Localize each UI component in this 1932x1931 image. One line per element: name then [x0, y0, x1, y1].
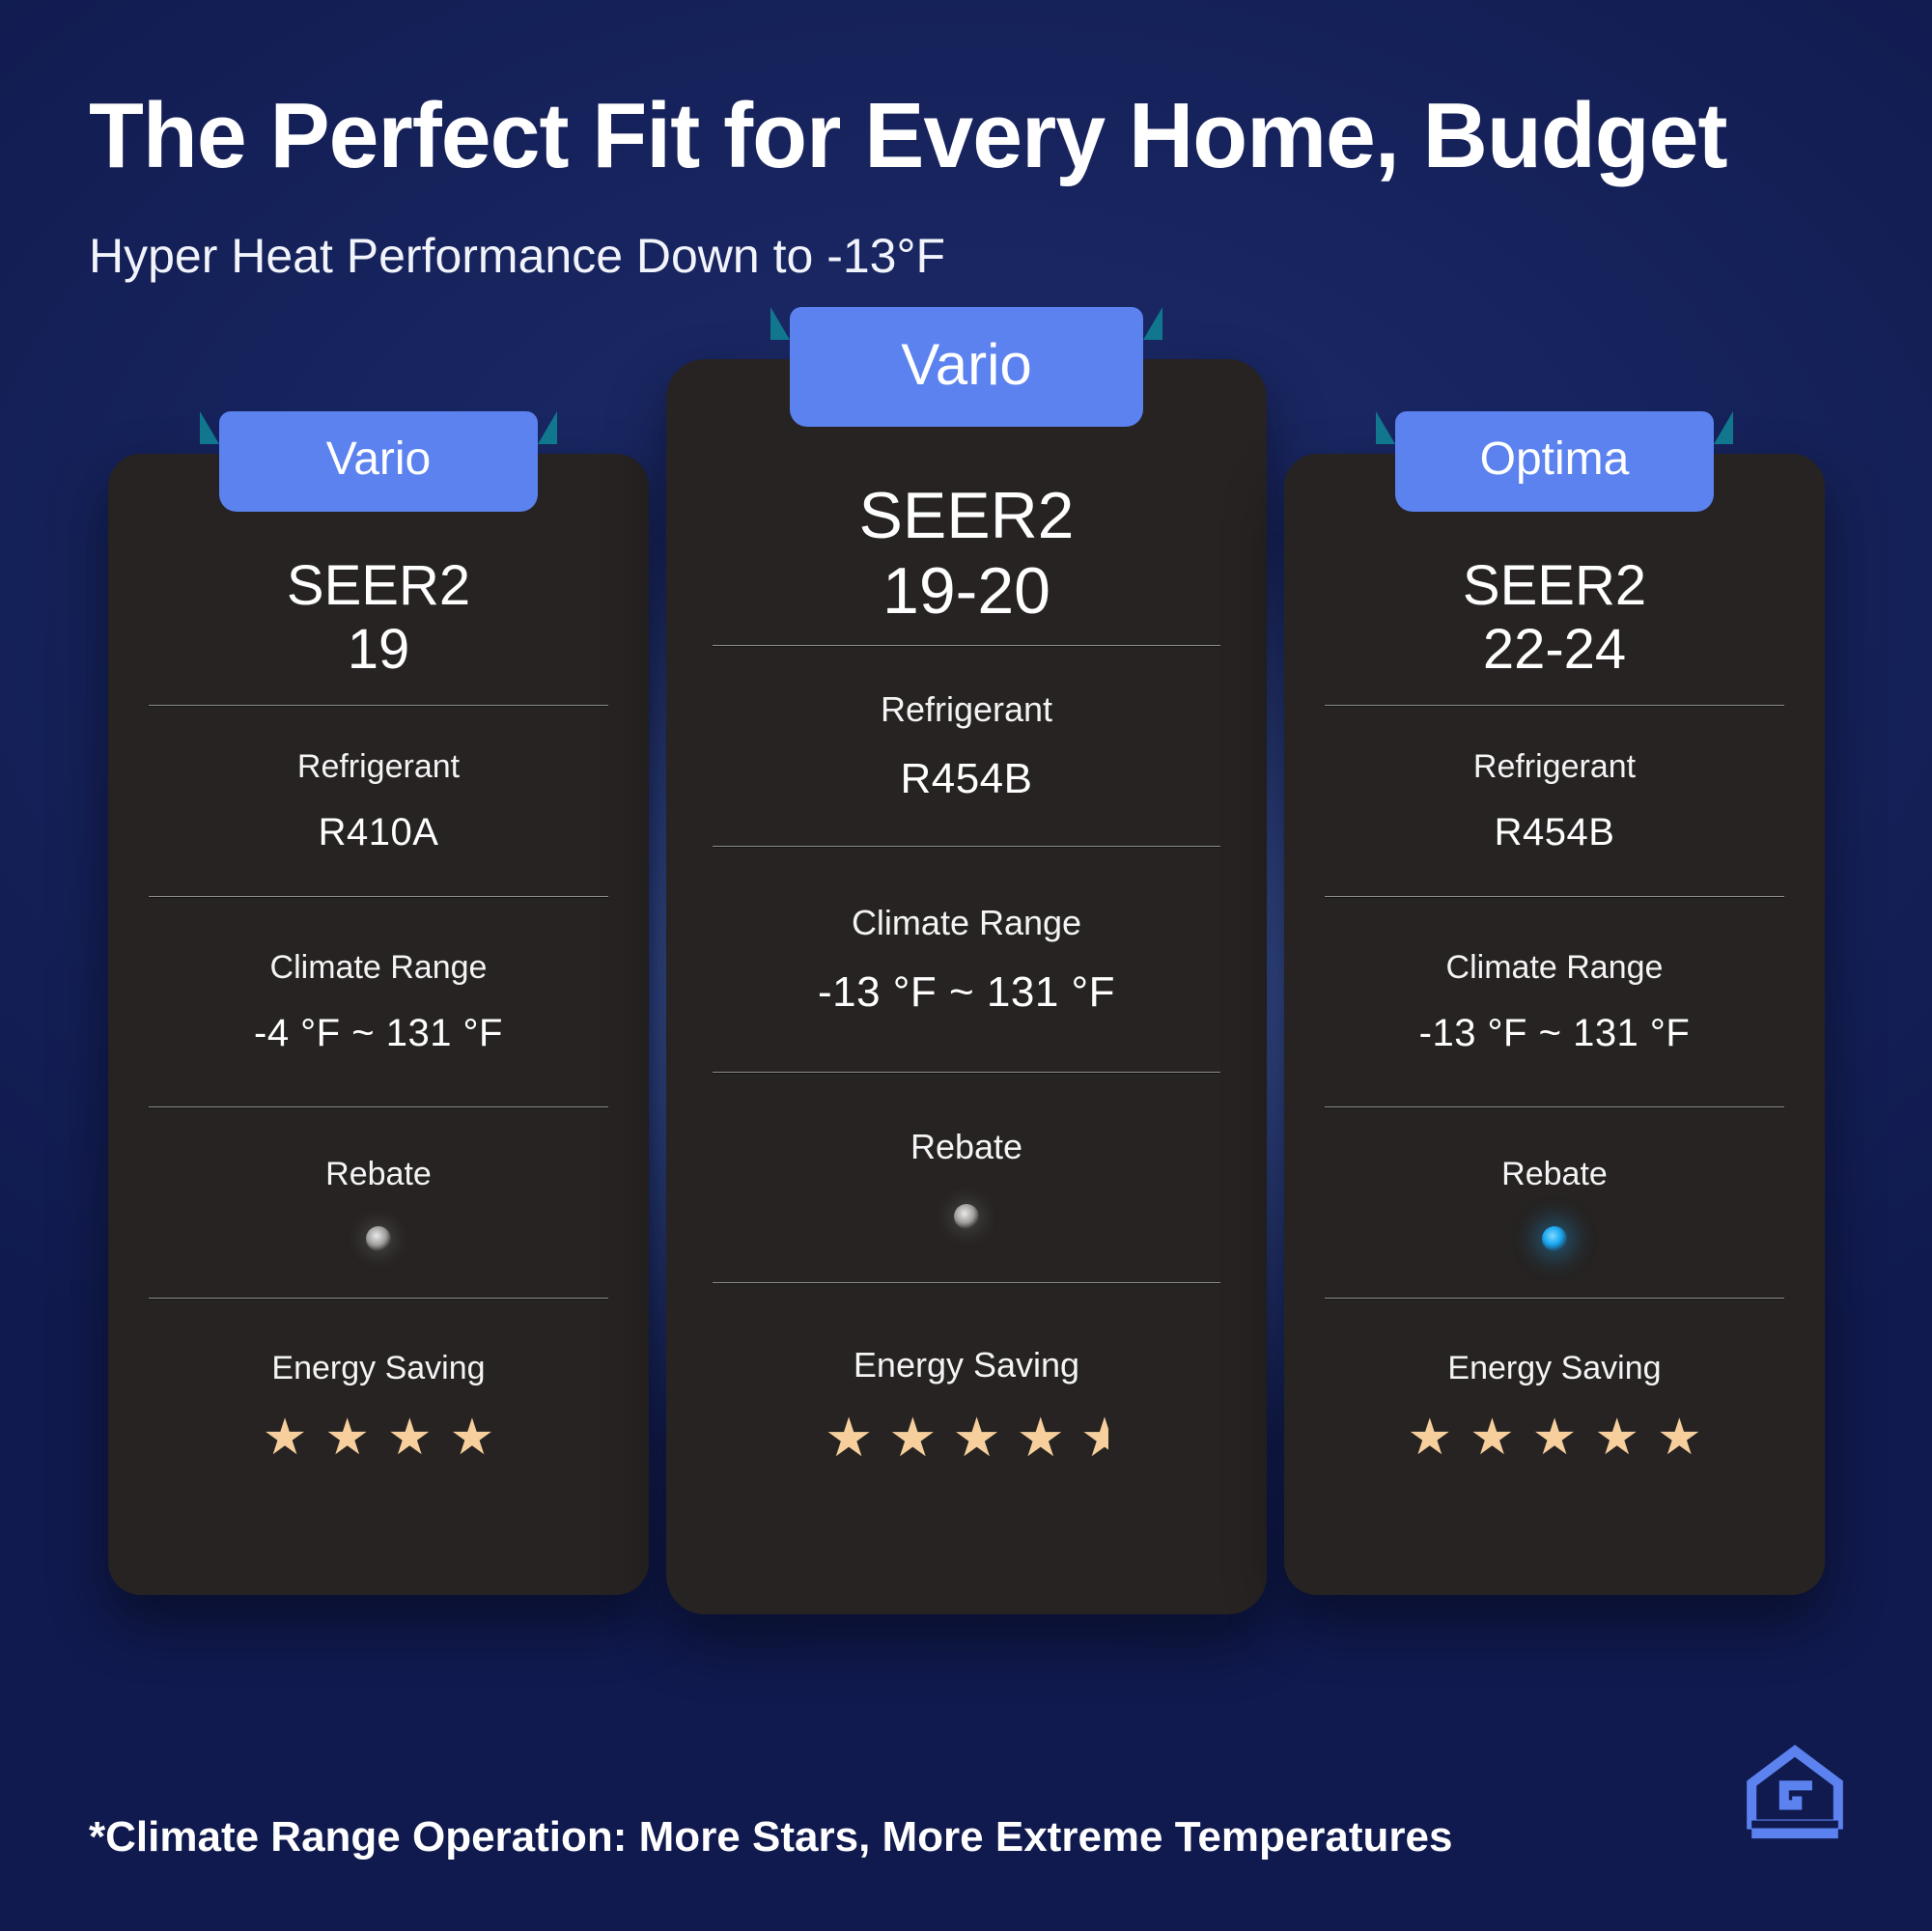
star-icon: ★: [324, 1413, 370, 1463]
ribbon-label: Vario: [219, 436, 538, 483]
half-star-icon: ★: [1080, 1411, 1108, 1465]
seer-label: SEER2: [149, 554, 608, 618]
row-energy-saving: Energy Saving ★★★★★: [1325, 1300, 1784, 1512]
star-icon: ★: [952, 1411, 1000, 1465]
ribbon-badge-vario-19-20: Vario: [790, 307, 1143, 427]
rebate-status-dot-icon: [366, 1226, 391, 1251]
energy-saving-label: Energy Saving: [854, 1345, 1079, 1385]
energy-saving-label: Energy Saving: [1447, 1350, 1661, 1387]
row-refrigerant: Refrigerant R410A: [149, 707, 608, 896]
star-icon: ★: [825, 1411, 873, 1465]
star-icon: ★: [263, 1413, 308, 1463]
seer-value: 22-24: [1325, 618, 1784, 682]
rebate-label: Rebate: [325, 1156, 432, 1193]
star-icon: ★: [1532, 1413, 1578, 1463]
page-subtitle: Hyper Heat Performance Down to -13°F: [89, 228, 1875, 284]
ribbon-fold-left-icon: [200, 411, 219, 444]
climate-range-value: -13 °F ~ 131 °F: [818, 968, 1115, 1017]
star-icon: ★: [1017, 1411, 1065, 1465]
card-vario-19-20[interactable]: Vario SEER2 19-20 Refrigerant R454B Clim…: [666, 359, 1267, 1614]
refrigerant-value: R454B: [900, 755, 1032, 803]
climate-range-label: Climate Range: [1446, 949, 1664, 987]
star-icon: ★: [1407, 1413, 1452, 1463]
ribbon-label: Vario: [790, 336, 1143, 394]
comparison-cards: Vario SEER2 19 Refrigerant R410A Climate…: [0, 359, 1932, 1701]
house-logo-icon: [1741, 1738, 1849, 1846]
ribbon-badge-optima: Optima: [1395, 411, 1714, 512]
seer-value: 19-20: [713, 554, 1220, 630]
climate-range-value: -13 °F ~ 131 °F: [1419, 1012, 1691, 1055]
seer-label: SEER2: [1325, 554, 1784, 618]
star-icon: ★: [1470, 1413, 1515, 1463]
ribbon-label: Optima: [1395, 436, 1714, 483]
refrigerant-value: R454B: [1495, 811, 1615, 854]
card-vario-19[interactable]: Vario SEER2 19 Refrigerant R410A Climate…: [108, 454, 649, 1595]
page-title: The Perfect Fit for Every Home, Budget: [89, 87, 1822, 185]
seer-label: SEER2: [713, 479, 1220, 554]
row-energy-saving: Energy Saving ★★★★: [149, 1300, 608, 1512]
row-rebate: Rebate: [149, 1108, 608, 1298]
row-rebate: Rebate: [1325, 1108, 1784, 1298]
star-icon: ★: [1594, 1413, 1639, 1463]
row-refrigerant: Refrigerant R454B: [713, 647, 1220, 846]
ribbon-fold-right-icon: [538, 411, 557, 444]
climate-range-label: Climate Range: [270, 949, 488, 987]
refrigerant-label: Refrigerant: [881, 689, 1052, 730]
rebate-status-dot-icon: [1542, 1226, 1567, 1251]
star-icon: ★: [450, 1413, 495, 1463]
energy-saving-stars: ★★★★★: [1407, 1413, 1701, 1463]
ribbon-fold-left-icon: [1376, 411, 1395, 444]
refrigerant-label: Refrigerant: [1473, 748, 1636, 786]
star-icon: ★: [1657, 1413, 1702, 1463]
refrigerant-value: R410A: [319, 811, 439, 854]
row-refrigerant: Refrigerant R454B: [1325, 707, 1784, 896]
row-rebate: Rebate: [713, 1074, 1220, 1282]
climate-range-value: -4 °F ~ 131 °F: [254, 1012, 503, 1055]
refrigerant-label: Refrigerant: [297, 748, 460, 786]
footnote: *Climate Range Operation: More Stars, Mo…: [89, 1813, 1453, 1861]
row-energy-saving: Energy Saving ★★★★★: [713, 1284, 1220, 1525]
row-climate-range: Climate Range -4 °F ~ 131 °F: [149, 898, 608, 1106]
ribbon-fold-right-icon: [1143, 307, 1162, 340]
rebate-status-dot-icon: [954, 1204, 979, 1229]
energy-saving-label: Energy Saving: [271, 1350, 485, 1387]
row-climate-range: Climate Range -13 °F ~ 131 °F: [713, 848, 1220, 1072]
energy-saving-stars: ★★★★: [263, 1413, 495, 1463]
header: The Perfect Fit for Every Home, Budget H…: [89, 87, 1875, 284]
climate-range-label: Climate Range: [852, 903, 1081, 943]
ribbon-fold-right-icon: [1714, 411, 1733, 444]
rebate-label: Rebate: [910, 1127, 1022, 1167]
ribbon-badge-vario-19: Vario: [219, 411, 538, 512]
rebate-label: Rebate: [1501, 1156, 1608, 1193]
seer-value: 19: [149, 618, 608, 682]
card-optima-22-24[interactable]: Optima SEER2 22-24 Refrigerant R454B Cli…: [1284, 454, 1825, 1595]
star-icon: ★: [387, 1413, 433, 1463]
energy-saving-stars: ★★★★★: [825, 1411, 1108, 1465]
ribbon-fold-left-icon: [770, 307, 790, 340]
star-icon: ★: [888, 1411, 937, 1465]
row-climate-range: Climate Range -13 °F ~ 131 °F: [1325, 898, 1784, 1106]
